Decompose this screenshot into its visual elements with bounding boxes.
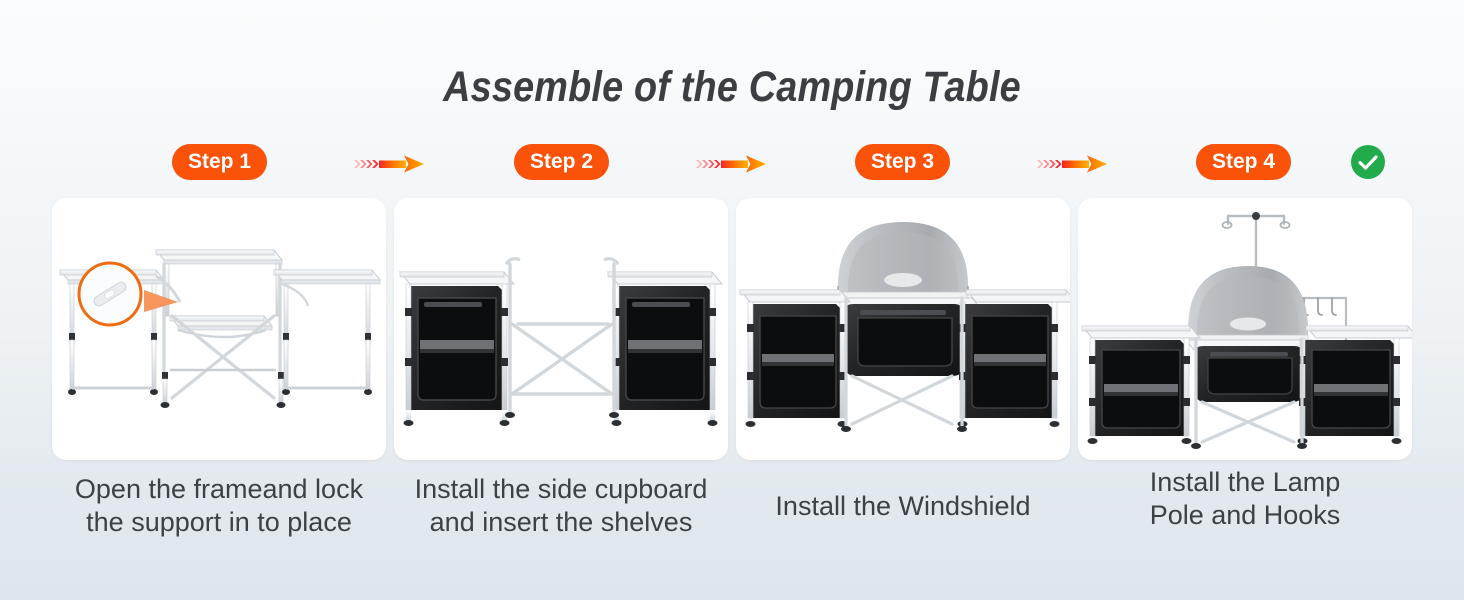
step-badge-3: Step 3 <box>855 144 950 180</box>
infographic-page: Assemble of the Camping Table Step 1 Ste… <box>0 0 1464 600</box>
step-caption-1: Open the frameand lock the support in to… <box>39 473 399 539</box>
page-title: Assemble of the Camping Table <box>88 62 1376 112</box>
check-circle-icon <box>1350 144 1386 180</box>
caption-line: Install the Windshield <box>723 490 1083 523</box>
arrow-icon-3 <box>1035 152 1111 176</box>
step-caption-4: Install the Lamp Pole and Hooks <box>1065 466 1425 532</box>
step-badge-1: Step 1 <box>172 144 267 180</box>
step-image-2 <box>394 198 728 460</box>
step-image-1 <box>52 198 386 460</box>
step-badge-2: Step 2 <box>514 144 609 180</box>
step-caption-2: Install the side cupboard and insert the… <box>381 473 741 539</box>
step-caption-3: Install the Windshield <box>723 490 1083 523</box>
caption-line: Pole and Hooks <box>1065 499 1425 532</box>
caption-line: the support in to place <box>39 506 399 539</box>
step-image-4 <box>1078 198 1412 460</box>
step-badge-4: Step 4 <box>1196 144 1291 180</box>
step-image-3 <box>736 198 1070 460</box>
arrow-icon-1 <box>352 152 428 176</box>
caption-line: Open the frameand lock <box>39 473 399 506</box>
arrow-icon-2 <box>694 152 770 176</box>
caption-line: Install the Lamp <box>1065 466 1425 499</box>
caption-line: and insert the shelves <box>381 506 741 539</box>
caption-line: Install the side cupboard <box>381 473 741 506</box>
step-badge-row: Step 1 Step 2 Step 3 Step 4 <box>0 144 1464 184</box>
